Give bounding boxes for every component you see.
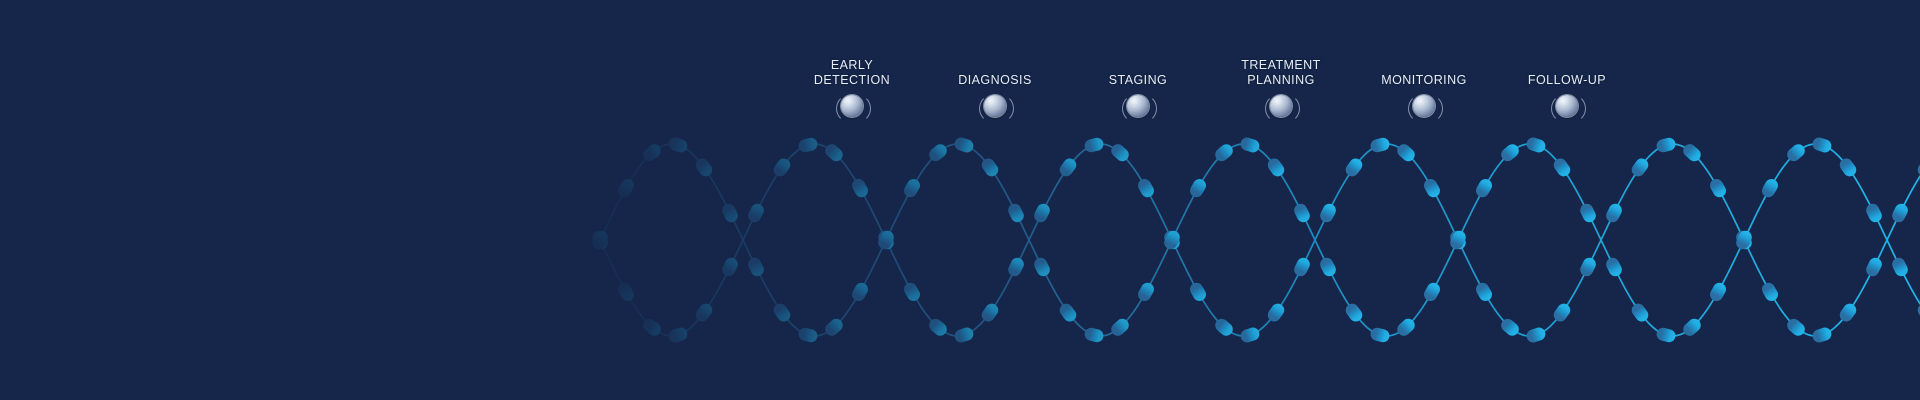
timeline-stage-label: STAGING (1063, 73, 1213, 88)
helix-base-capsule (1551, 156, 1573, 179)
helix-base-capsule (1604, 202, 1624, 225)
helix-base-capsule (1890, 256, 1910, 279)
timeline-stage-label: DIAGNOSIS (920, 73, 1070, 88)
node-sphere-icon (1270, 95, 1292, 117)
timeline-stage-diagnosis[interactable]: DIAGNOSIS (920, 73, 1070, 122)
helix-base-capsule (1915, 301, 1920, 324)
helix-base-capsule (902, 280, 923, 303)
timeline-node-marker[interactable] (1554, 95, 1581, 122)
helix-base-capsule (1890, 202, 1910, 225)
timeline-stage-label: EARLY DETECTION (777, 58, 927, 88)
helix-base-capsule (1864, 256, 1884, 279)
helix-base-capsule (1006, 202, 1026, 225)
helix-base-capsule (771, 301, 793, 324)
helix-base-capsule (1006, 256, 1026, 279)
helix-base-capsule (1369, 326, 1391, 343)
helix-base-capsule (876, 229, 896, 252)
helix-base-capsule (1811, 326, 1833, 344)
helix-base-capsule (1343, 156, 1365, 179)
timeline-node-marker[interactable] (839, 95, 866, 122)
helix-base-capsule (953, 326, 975, 344)
helix-base-capsule (1032, 256, 1052, 279)
helix-base-capsule (1760, 280, 1781, 303)
helix-strand-b (600, 144, 1920, 336)
helix-base-capsule (1578, 202, 1598, 225)
helix-base-capsule (1136, 280, 1157, 303)
timeline-stage-follow-up[interactable]: FOLLOW-UP (1492, 73, 1642, 122)
helix-base-capsule (1837, 301, 1859, 324)
helix-base-capsule (1604, 256, 1624, 279)
timeline-node-marker[interactable] (1125, 95, 1152, 122)
helix-base-capsules (590, 136, 1920, 344)
helix-base-capsule (1292, 202, 1312, 225)
helix-base-capsule (771, 156, 793, 179)
timeline-stage-treatment-planning[interactable]: TREATMENT PLANNING (1206, 58, 1356, 122)
helix-base-capsule (1708, 280, 1729, 303)
helix-base-capsule (693, 156, 715, 179)
helix-base-capsule (1655, 326, 1677, 343)
helix-base-capsule (746, 256, 766, 279)
helix-base-capsule (797, 326, 819, 343)
timeline-stage-label: MONITORING (1349, 73, 1499, 88)
node-sphere-icon (1127, 95, 1149, 117)
dna-timeline-banner: EARLY DETECTIONDIAGNOSISSTAGINGTREATMENT… (0, 0, 1920, 400)
helix-strands (600, 144, 1920, 336)
helix-base-capsule (979, 156, 1001, 179)
helix-base-capsule (590, 229, 610, 252)
helix-base-pair-rungs (609, 147, 1905, 333)
helix-base-capsule (1525, 326, 1547, 344)
helix-base-capsule (1188, 280, 1209, 303)
helix-base-capsule (1499, 316, 1522, 338)
helix-base-capsule (1422, 280, 1443, 303)
helix-base-capsule (876, 229, 896, 252)
timeline-stage-list: EARLY DETECTIONDIAGNOSISSTAGINGTREATMENT… (0, 0, 1920, 150)
helix-base-capsule (1318, 256, 1338, 279)
helix-base-capsule (1708, 177, 1729, 200)
helix-base-capsule (1551, 301, 1573, 324)
helix-base-capsule (746, 202, 766, 225)
node-sphere-icon (1413, 95, 1435, 117)
helix-base-capsule (1239, 326, 1261, 344)
helix-base-capsule (1760, 177, 1781, 200)
node-sphere-icon (1556, 95, 1578, 117)
timeline-stage-label: FOLLOW-UP (1492, 73, 1642, 88)
helix-base-capsule (1136, 177, 1157, 200)
helix-base-capsule (616, 177, 637, 200)
helix-base-capsule (1837, 156, 1859, 179)
helix-base-capsule (1395, 316, 1418, 338)
helix-strand-a (600, 144, 1920, 336)
helix-base-capsule (1057, 156, 1079, 179)
helix-base-capsule (1474, 177, 1495, 200)
helix-base-capsule (1681, 316, 1704, 338)
helix-base-capsule (1213, 316, 1236, 338)
helix-base-capsule (927, 316, 950, 338)
helix-base-capsule (1785, 316, 1808, 338)
helix-base-capsule (616, 280, 637, 303)
helix-base-capsule (902, 177, 923, 200)
timeline-node-marker[interactable] (1411, 95, 1438, 122)
helix-base-capsule (850, 280, 871, 303)
helix-base-capsule (641, 316, 664, 338)
helix-base-capsule (1057, 301, 1079, 324)
helix-base-capsule (850, 177, 871, 200)
timeline-node-marker[interactable] (982, 95, 1009, 122)
helix-base-capsule (1162, 229, 1182, 252)
helix-base-capsule (1448, 229, 1468, 252)
helix-base-capsule (1265, 301, 1287, 324)
node-sphere-icon (841, 95, 863, 117)
helix-base-capsule (1343, 301, 1365, 324)
timeline-stage-label: TREATMENT PLANNING (1206, 58, 1356, 88)
helix-base-capsule (1422, 177, 1443, 200)
helix-base-capsule (1864, 202, 1884, 225)
helix-base-capsule (1915, 156, 1920, 179)
helix-base-capsule (720, 202, 740, 225)
helix-base-capsule (823, 316, 846, 338)
helix-base-capsule (1109, 316, 1132, 338)
helix-base-capsule (1578, 256, 1598, 279)
helix-base-capsule (1188, 177, 1209, 200)
helix-base-capsule (1265, 156, 1287, 179)
helix-base-capsule (720, 256, 740, 279)
helix-base-capsule (979, 301, 1001, 324)
helix-base-capsule (1734, 229, 1754, 252)
helix-base-capsule (1032, 202, 1052, 225)
helix-base-capsule (1162, 229, 1182, 252)
helix-base-capsule (667, 326, 689, 344)
helix-base-capsule (1292, 256, 1312, 279)
node-sphere-icon (984, 95, 1006, 117)
helix-base-capsule (693, 301, 715, 324)
helix-base-capsule (1083, 326, 1105, 343)
helix-base-capsule (1318, 202, 1338, 225)
helix-base-capsule (1448, 229, 1468, 252)
helix-base-capsule (1734, 229, 1754, 252)
helix-base-capsule (1629, 301, 1651, 324)
helix-base-capsule (590, 229, 610, 252)
timeline-stage-staging[interactable]: STAGING (1063, 73, 1213, 122)
timeline-stage-monitoring[interactable]: MONITORING (1349, 73, 1499, 122)
timeline-stage-early-detection[interactable]: EARLY DETECTION (777, 58, 927, 122)
helix-base-capsule (1474, 280, 1495, 303)
timeline-node-marker[interactable] (1268, 95, 1295, 122)
helix-base-capsule (1629, 156, 1651, 179)
